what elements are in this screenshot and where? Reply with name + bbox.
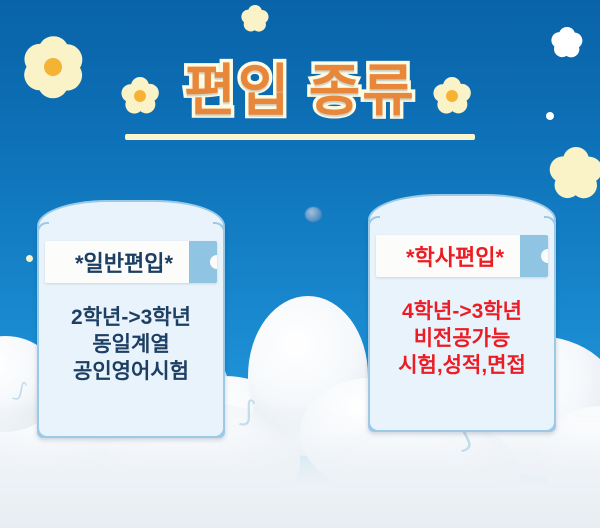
dot-left-icon [26, 255, 33, 262]
card-notch [368, 420, 380, 432]
card-body: 4학년->3학년 비전공가능 시험,성적,면접 [370, 277, 554, 406]
card-general-transfer[interactable]: *일반편입* 2학년->3학년 동일계열 공인영어시험 [37, 222, 225, 438]
card-banner: *일반편입* [45, 241, 217, 283]
banner-ribbon-tab-icon [189, 241, 217, 283]
title-underline [125, 134, 475, 140]
card-line: 4학년->3학년 [376, 299, 548, 326]
card-line: 동일계열 [45, 332, 217, 359]
card-line: 비전공가능 [376, 326, 548, 353]
flower-right-mid-icon [548, 146, 600, 202]
card-notch [37, 426, 49, 438]
page-title: 편입 종류 [184, 46, 416, 127]
card-body: 2학년->3학년 동일계열 공인영어시험 [39, 283, 223, 412]
card-line: 시험,성적,면접 [376, 353, 548, 380]
card-line: 2학년->3학년 [45, 305, 217, 332]
banner-ribbon-tab-icon [520, 235, 548, 277]
poster-title-area: 편입 종류 [0, 46, 600, 127]
flower-top-center-icon [240, 4, 270, 34]
card-banner-label: *일반편입* [45, 246, 189, 278]
card-line: 공인영어시험 [45, 359, 217, 386]
moon-icon [305, 207, 322, 222]
card-bachelor-transfer[interactable]: *학사편입* 4학년->3학년 비전공가능 시험,성적,면접 [368, 216, 556, 432]
card-notch [213, 426, 225, 438]
card-banner: *학사편입* [376, 235, 548, 277]
card-notch [544, 420, 556, 432]
poster-canvas: ⟆ ⟆ ⟆ [0, 0, 600, 528]
card-banner-label: *학사편입* [376, 240, 520, 272]
